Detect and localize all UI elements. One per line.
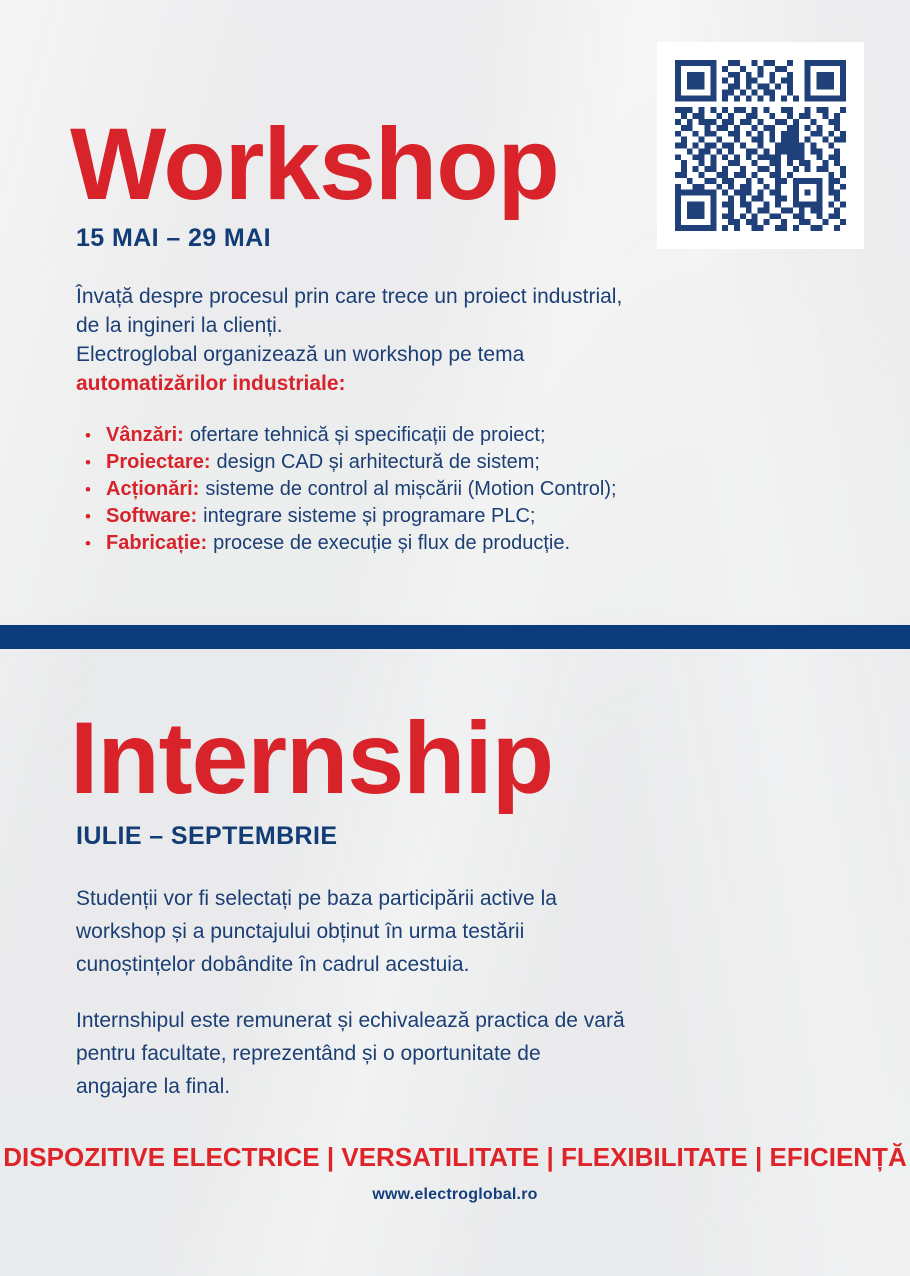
internship-p2-line-1: Internshipul este remunerat și echivalea… <box>76 1004 876 1037</box>
list-item-label: Fabricație: <box>106 530 207 557</box>
workshop-intro-text: Învață despre procesul prin care trece u… <box>76 282 866 398</box>
workshop-intro-line-1: Învață despre procesul prin care trece u… <box>76 282 866 311</box>
workshop-topics-list: • Vânzări: ofertare tehnică și specifica… <box>76 422 876 557</box>
list-item: • Fabricație: procese de execuție și flu… <box>76 530 876 557</box>
list-item: • Vânzări: ofertare tehnică și specifica… <box>76 422 876 449</box>
list-item: • Acționări: sisteme de control al mișcă… <box>76 476 876 503</box>
bullet-dot-icon: • <box>76 503 106 530</box>
internship-body-text: Studenții vor fi selectați pe baza parti… <box>76 882 876 1103</box>
internship-p1-line-2: workshop și a punctajului obținut în urm… <box>76 915 876 948</box>
internship-paragraph-1: Studenții vor fi selectați pe baza parti… <box>76 882 876 981</box>
list-item: • Proiectare: design CAD și arhitectură … <box>76 449 876 476</box>
internship-dates: IULIE – SEPTEMBRIE <box>76 822 337 851</box>
list-item-text: procese de execuție și flux de producție… <box>213 530 570 557</box>
workshop-intro-line-2: de la ingineri la clienți. <box>76 311 866 340</box>
list-item-label: Vânzări: <box>106 422 184 449</box>
workshop-dates: 15 MAI – 29 MAI <box>76 224 271 253</box>
bullet-dot-icon: • <box>76 449 106 476</box>
bullet-dot-icon: • <box>76 422 106 449</box>
list-item: • Software: integrare sisteme și program… <box>76 503 876 530</box>
list-item-text: sisteme de control al mișcării (Motion C… <box>205 476 616 503</box>
poster-canvas: Workshop 15 MAI – 29 MAI Învață despre p… <box>0 0 910 1276</box>
workshop-title: Workshop <box>70 113 559 215</box>
bullet-dot-icon: • <box>76 530 106 557</box>
internship-p2-line-2: pentru facultate, reprezentând și o opor… <box>76 1037 876 1070</box>
paragraph-spacer <box>76 981 876 1004</box>
footer-website-link[interactable]: www.electroglobal.ro <box>0 1182 910 1208</box>
workshop-intro-line-3: Electroglobal organizează un workshop pe… <box>76 340 866 369</box>
list-item-text: design CAD și arhitectură de sistem; <box>217 449 540 476</box>
internship-paragraph-2: Internshipul este remunerat și echivalea… <box>76 1004 876 1103</box>
internship-title: Internship <box>70 707 553 809</box>
list-item-text: integrare sisteme și programare PLC; <box>203 503 535 530</box>
bullet-dot-icon: • <box>76 476 106 503</box>
section-divider-bar <box>0 625 910 649</box>
footer-tagline: DISPOZITIVE ELECTRICE | VERSATILITATE | … <box>0 1140 910 1174</box>
internship-p1-line-3: cunoștințelor dobândite în cadrul acestu… <box>76 948 876 981</box>
internship-p1-line-1: Studenții vor fi selectați pe baza parti… <box>76 882 876 915</box>
workshop-section: Workshop 15 MAI – 29 MAI Învață despre p… <box>0 0 910 625</box>
qr-code-icon[interactable] <box>675 60 846 231</box>
internship-p2-line-3: angajare la final. <box>76 1070 876 1103</box>
list-item-text: ofertare tehnică și specificații de proi… <box>190 422 546 449</box>
workshop-intro-emphasis: automatizărilor industriale: <box>76 369 866 398</box>
list-item-label: Acționări: <box>106 476 199 503</box>
qr-code-card[interactable] <box>657 42 864 249</box>
list-item-label: Software: <box>106 503 197 530</box>
list-item-label: Proiectare: <box>106 449 211 476</box>
poster-footer: DISPOZITIVE ELECTRICE | VERSATILITATE | … <box>0 1140 910 1208</box>
